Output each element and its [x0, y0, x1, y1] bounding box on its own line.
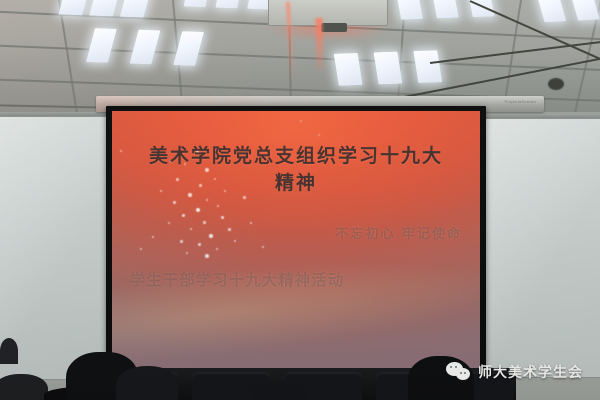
- wechat-watermark: 师大美术学生会: [446, 362, 583, 382]
- whiteboard-glare: [485, 119, 600, 377]
- light-pane: [431, 0, 459, 18]
- light-pane: [130, 30, 161, 65]
- whiteboard-glare: [0, 117, 107, 379]
- fluorescent-ceiling-light: [395, 0, 494, 20]
- slide-subtitle-left: 学生干部学习十九大精神活动: [130, 269, 345, 290]
- light-pane: [570, 0, 600, 21]
- watermark-text: 师大美术学生会: [478, 362, 583, 382]
- audience-silhouette: [0, 374, 48, 400]
- slide-title-line-1: 美术学院党总支组织学习十九大: [120, 143, 472, 170]
- projection-screen-surface: 美术学院党总支组织学习十九大 精神 不忘初心 牢记使命 学生干部学习十九大精神活…: [112, 111, 480, 369]
- wechat-logo-icon: [446, 362, 472, 382]
- projection-screen-frame: 美术学院党总支组织学习十九大 精神 不忘初心 牢记使命 学生干部学习十九大精神活…: [106, 106, 486, 376]
- audience-silhouette: [116, 366, 178, 400]
- wechat-eye: [464, 372, 466, 374]
- audience-silhouette: [250, 382, 306, 400]
- fluorescent-ceiling-light: [86, 28, 204, 66]
- housing-brand-label: ProjectaScreen: [504, 99, 536, 104]
- wechat-bubble-small: [456, 368, 470, 380]
- wechat-eye: [460, 372, 462, 374]
- slide-title: 美术学院党总支组织学习十九大 精神: [112, 143, 480, 197]
- audience-silhouette: [0, 338, 18, 364]
- fluorescent-ceiling-light: [537, 0, 600, 22]
- light-pane: [184, 0, 211, 7]
- light-pane: [334, 53, 363, 86]
- fluorescent-ceiling-light: [58, 0, 151, 17]
- whiteboard-right: [484, 118, 600, 378]
- projector-beam: [316, 18, 324, 70]
- light-pane: [374, 52, 403, 85]
- whiteboard-left: [0, 116, 108, 380]
- photo-scene: ProjectaScreen 美术学院党总支组织学习十九大 精神 不忘初心 牢记…: [0, 0, 600, 400]
- light-pane: [58, 0, 90, 15]
- projector-lens-icon: [321, 23, 347, 32]
- wechat-eye: [455, 366, 457, 368]
- slide-title-line-2: 精神: [120, 170, 472, 197]
- light-pane: [215, 0, 242, 8]
- slide-subtitle-right: 不忘初心 牢记使命: [335, 223, 462, 242]
- ceiling-cable-knot: [548, 78, 564, 90]
- light-pane: [413, 50, 442, 83]
- wechat-eye: [450, 366, 452, 368]
- light-pane: [89, 0, 121, 16]
- fluorescent-ceiling-light: [334, 50, 443, 86]
